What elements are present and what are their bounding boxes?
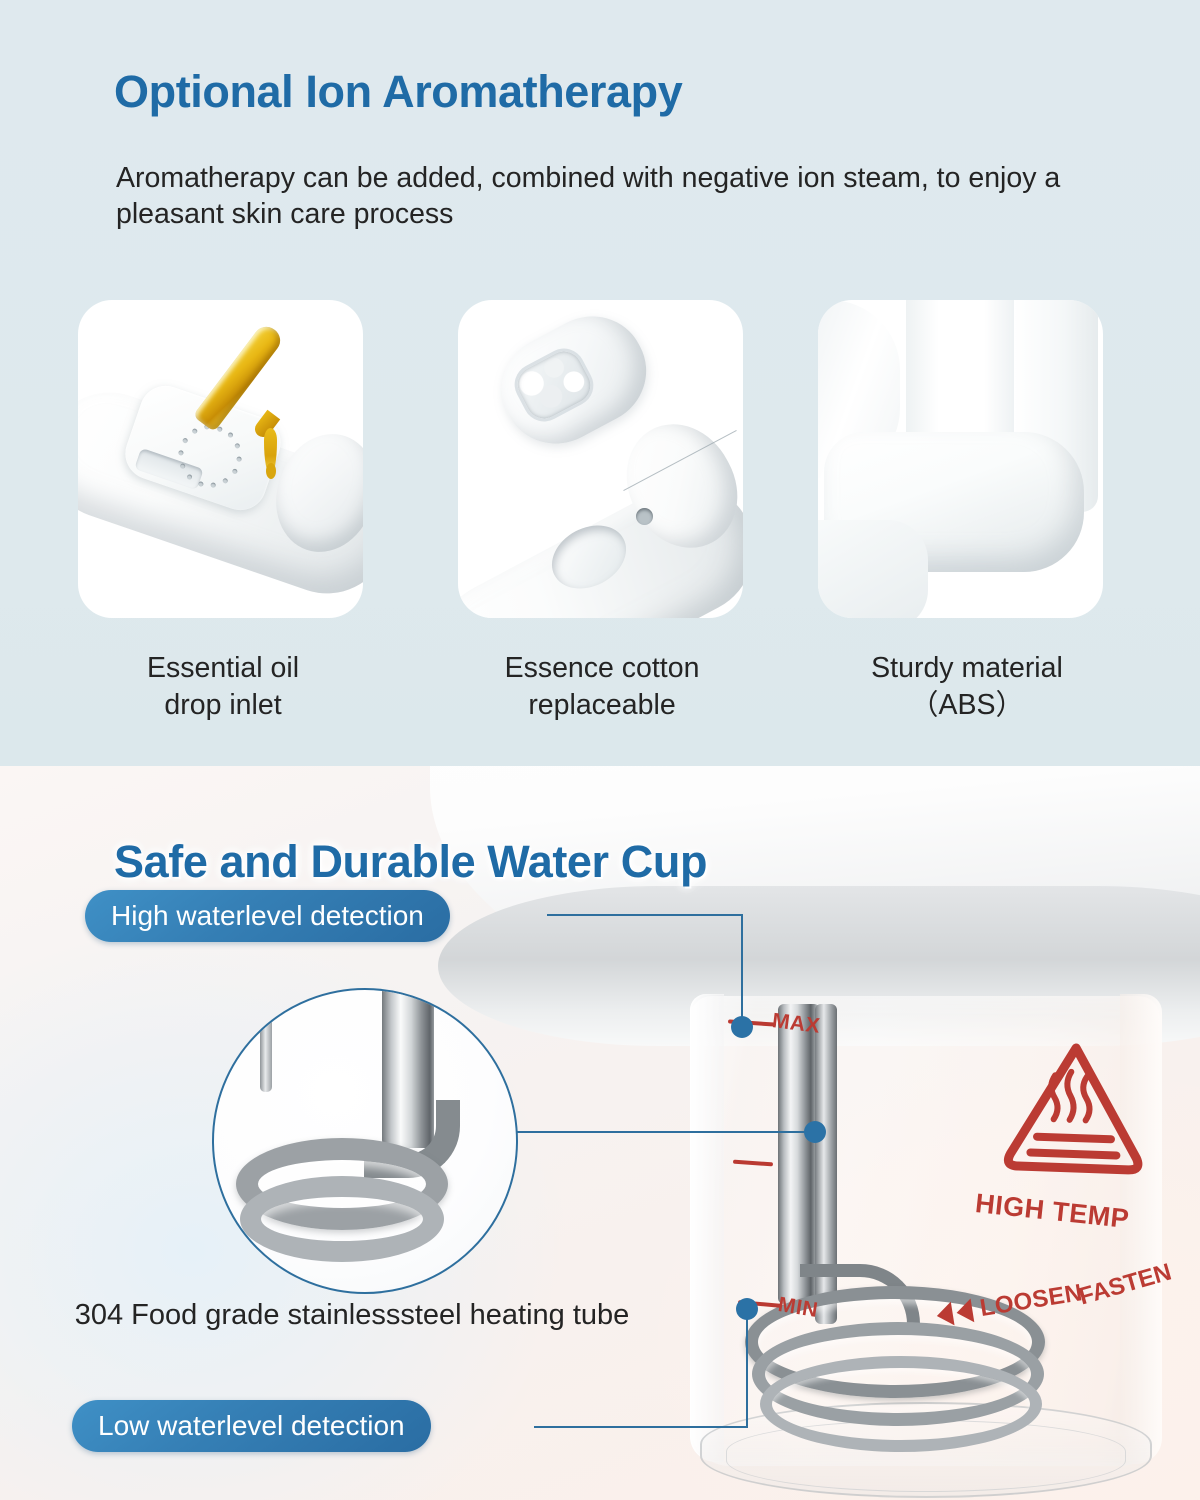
heating-tube-caption: 304 Food grade stainlesssteel heating tu… bbox=[72, 1296, 632, 1334]
connector-line-tube-horizontal bbox=[516, 1131, 814, 1133]
feature-tile-essence-cotton bbox=[458, 300, 743, 618]
connector-line-low-horizontal bbox=[534, 1426, 748, 1428]
connector-dot-low-level bbox=[736, 1298, 758, 1320]
heating-tube-vertical bbox=[778, 1004, 820, 1304]
aromatherapy-heading: Optional Ion Aromatherapy bbox=[114, 66, 682, 118]
feature-tile-row bbox=[0, 300, 1200, 620]
feature-caption-essential-oil: Essential oildrop inlet bbox=[78, 650, 368, 724]
feature-caption-essence-cotton: Essence cottonreplaceable bbox=[456, 650, 748, 724]
essential-oil-drop-inlet-photo bbox=[78, 300, 363, 618]
aromatherapy-section: Optional Ion Aromatherapy Aromatherapy c… bbox=[0, 0, 1200, 766]
high-waterlevel-detection-label: High waterlevel detection bbox=[85, 890, 450, 942]
aromatherapy-subheading: Aromatherapy can be added, combined with… bbox=[116, 160, 1096, 232]
oil-droplet-bead bbox=[266, 463, 276, 479]
product-infographic-page: Optional Ion Aromatherapy Aromatherapy c… bbox=[0, 0, 1200, 1500]
connector-line-high-horizontal bbox=[547, 914, 743, 916]
high-temp-warning-icon bbox=[997, 1031, 1152, 1186]
water-cup-section: MAX MIN HIGH TEMP LOOSEN FASTEN Safe and bbox=[0, 766, 1200, 1500]
inset-sensor-rod bbox=[260, 988, 272, 1092]
essence-cotton-replaceable-photo bbox=[458, 300, 743, 618]
connector-dot-high-level bbox=[731, 1016, 753, 1038]
inset-tube-coil-2 bbox=[240, 1176, 444, 1262]
connector-line-high-vertical bbox=[741, 914, 743, 1026]
device-small-hole bbox=[636, 508, 653, 525]
heating-tube-coil-3 bbox=[760, 1356, 1042, 1452]
water-cup-left-wall bbox=[690, 994, 724, 1462]
sturdy-material-abs-photo bbox=[818, 300, 1103, 618]
feature-caption-sturdy-material: Sturdy material（ABS） bbox=[816, 650, 1118, 724]
connector-line-low-vertical bbox=[746, 1309, 748, 1428]
water-cup-heading: Safe and Durable Water Cup bbox=[114, 836, 707, 888]
feature-tile-sturdy-material bbox=[818, 300, 1103, 618]
low-waterlevel-detection-label: Low waterlevel detection bbox=[72, 1400, 431, 1452]
abs-lower-shape bbox=[818, 520, 928, 618]
feature-tile-essential-oil bbox=[78, 300, 363, 618]
connector-dot-heating-tube bbox=[804, 1121, 826, 1143]
heating-tube-zoom-inset bbox=[212, 988, 518, 1294]
